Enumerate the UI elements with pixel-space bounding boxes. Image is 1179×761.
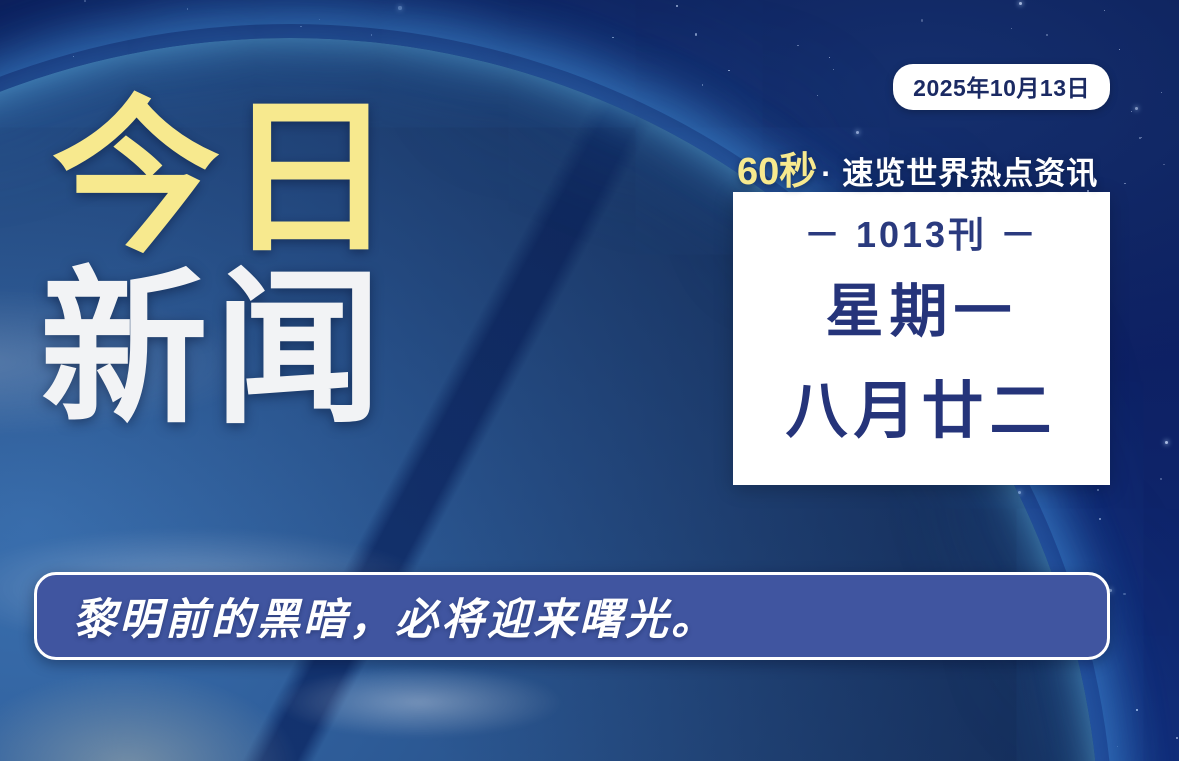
star-icon — [921, 19, 923, 21]
headline-line-news: 新闻 — [40, 267, 400, 432]
weekday-label: 星期一 — [825, 264, 1017, 348]
star-icon — [73, 56, 74, 57]
poster-canvas: 2025年10月13日 今日 新闻 60秒· 速览世界热点资讯 － 1013刊 … — [0, 0, 1179, 761]
star-icon — [1124, 183, 1125, 184]
headline-line-today: 今日 — [52, 96, 400, 261]
tagline: 60秒· 速览世界热点资讯 — [737, 140, 1098, 195]
star-icon — [300, 26, 301, 27]
star-icon — [1160, 478, 1161, 479]
star-icon — [1117, 746, 1118, 747]
star-icon — [1165, 441, 1168, 444]
star-icon — [1097, 489, 1098, 490]
tagline-description: · 速览世界热点资讯 — [821, 156, 1098, 191]
issue-number: － 1013刊 － — [804, 206, 1039, 258]
star-icon — [1161, 92, 1162, 93]
issue-card: － 1013刊 － 星期一 八月廿二 — [733, 192, 1110, 485]
star-icon — [797, 45, 798, 46]
date-badge: 2025年10月13日 — [893, 64, 1110, 110]
star-icon — [1135, 107, 1138, 110]
star-icon — [856, 131, 859, 134]
star-icon — [833, 69, 834, 70]
lunar-date-label: 八月廿二 — [785, 360, 1057, 450]
star-icon — [1131, 111, 1132, 112]
star-icon — [1019, 2, 1022, 5]
star-icon — [1011, 28, 1012, 29]
star-icon — [319, 19, 320, 20]
star-icon — [1136, 709, 1137, 710]
star-icon — [829, 57, 830, 58]
star-icon — [702, 84, 703, 85]
quote-text: 黎明前的黑暗，必将迎来曙光。 — [37, 585, 717, 647]
star-icon — [1104, 10, 1105, 11]
star-icon — [1176, 737, 1178, 739]
star-icon — [817, 95, 818, 96]
star-icon — [1123, 593, 1125, 595]
star-icon — [1119, 49, 1120, 50]
star-icon — [1099, 518, 1101, 520]
star-icon — [398, 6, 401, 9]
star-icon — [1141, 137, 1142, 138]
star-icon — [1046, 34, 1048, 36]
page-title: 今日 新闻 — [52, 96, 400, 431]
star-icon — [728, 70, 729, 71]
star-icon — [187, 8, 188, 9]
star-icon — [371, 34, 372, 35]
star-icon — [695, 33, 697, 35]
star-icon — [676, 5, 677, 6]
star-icon — [84, 0, 85, 1]
star-icon — [1163, 164, 1164, 165]
star-icon — [612, 37, 613, 38]
tagline-60-seconds: 60秒 — [737, 151, 817, 193]
quote-bar: 黎明前的黑暗，必将迎来曙光。 — [34, 572, 1110, 660]
